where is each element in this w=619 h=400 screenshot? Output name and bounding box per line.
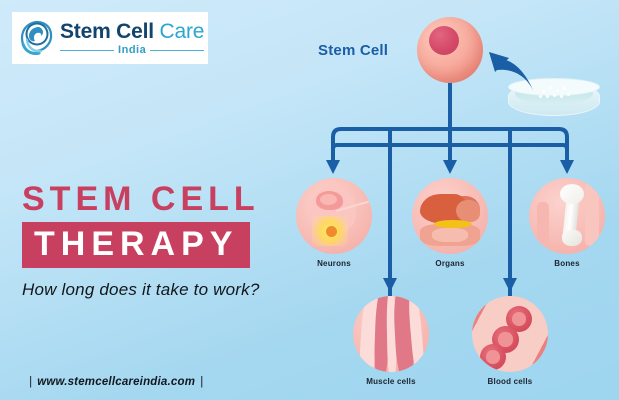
output-bones-label: Bones	[529, 259, 605, 268]
logo-line2: India	[118, 45, 146, 56]
embryo-in-hands-icon	[18, 18, 58, 58]
output-organs-label: Organs	[412, 259, 488, 268]
organs-icon	[412, 178, 488, 254]
footer-website[interactable]: |www.stemcellcareindia.com|	[24, 376, 208, 388]
output-muscle-cells[interactable]: Muscle cells	[353, 296, 429, 386]
logo-rule-right	[150, 50, 204, 51]
brand-logo[interactable]: Stem Cell Care India	[12, 12, 208, 64]
footer-bar-left: |	[24, 376, 37, 388]
neuron-icon	[296, 178, 372, 254]
footer-bar-right: |	[195, 376, 208, 388]
headline-line-2: THERAPY	[22, 222, 250, 268]
output-blood-cells-label: Blood cells	[472, 377, 548, 386]
bone-icon	[529, 178, 605, 254]
output-organs[interactable]: Organs	[412, 178, 488, 268]
stem-cell-nucleus-icon	[429, 26, 459, 55]
headline-block: STEM CELL THERAPY How long does it take …	[22, 182, 260, 300]
logo-wordmark: Stem Cell Care India	[60, 21, 204, 56]
infographic-canvas: Stem Cell Care India STEM CELL THERAPY H…	[0, 0, 619, 400]
headline-line-1: STEM CELL	[22, 182, 260, 216]
output-blood-cells[interactable]: Blood cells	[472, 296, 548, 386]
headline-subtitle: How long does it take to work?	[22, 280, 260, 300]
arrowhead-group-row1	[326, 160, 574, 174]
stem-cell-label: Stem Cell	[318, 42, 388, 59]
red-blood-cell-icon	[472, 296, 548, 372]
footer-url[interactable]: www.stemcellcareindia.com	[37, 376, 195, 388]
output-muscle-cells-label: Muscle cells	[353, 377, 429, 386]
logo-rule-left	[60, 50, 114, 51]
curved-arrow-icon	[487, 48, 547, 113]
logo-line1-light: Care	[160, 20, 205, 43]
stem-cell-illustration	[417, 17, 483, 83]
output-neurons[interactable]: Neurons	[296, 178, 372, 268]
output-bones[interactable]: Bones	[529, 178, 605, 268]
muscle-fiber-icon	[353, 296, 429, 372]
logo-line1-dark: Stem Cell	[60, 20, 154, 43]
output-neurons-label: Neurons	[296, 259, 372, 268]
arrowhead-group-row2	[383, 278, 517, 292]
